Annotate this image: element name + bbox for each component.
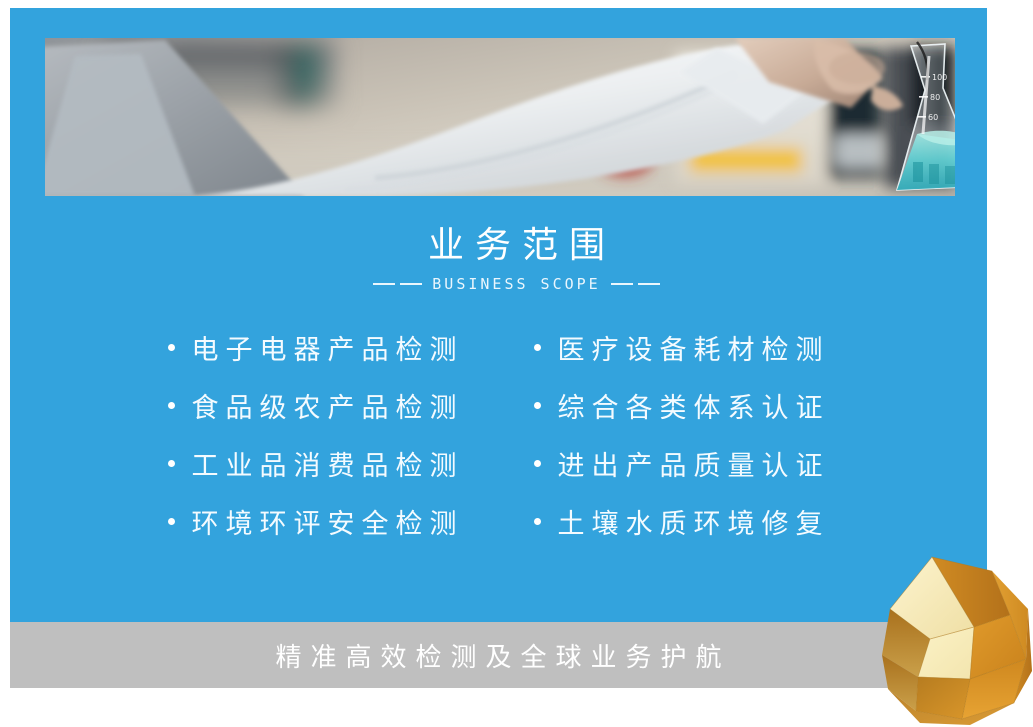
bullet-icon xyxy=(168,460,175,467)
hero-photo: 100 80 60 xyxy=(45,38,955,196)
section-heading: 业务范围 BUSINESS SCOPE xyxy=(0,224,1033,294)
svg-text:60: 60 xyxy=(928,113,938,122)
footer-banner-label: 精准高效检测及全球业务护航 xyxy=(266,637,730,674)
slide-canvas: 100 80 60 业务范围 BUSINESS SCOPE xyxy=(0,0,1033,727)
bullet-icon xyxy=(534,344,541,351)
page-title: 业务范围 xyxy=(0,224,1033,268)
list-item-label: 环境环评安全检测 xyxy=(192,502,464,541)
bullet-icon xyxy=(534,460,541,467)
section-subtitle: BUSINESS SCOPE xyxy=(0,274,1033,294)
list-item-label: 电子电器产品检测 xyxy=(192,328,464,367)
list-item: 电子电器产品检测 xyxy=(168,318,464,376)
bullet-icon xyxy=(534,402,541,409)
subtitle-rule-left xyxy=(373,283,422,285)
list-item: 工业品消费品检测 xyxy=(168,434,464,492)
list-item: 食品级农产品检测 xyxy=(168,376,464,434)
list-item-label: 食品级农产品检测 xyxy=(192,386,464,425)
subtitle-label: BUSINESS SCOPE xyxy=(432,274,600,294)
list-item-label: 土壤水质环境修复 xyxy=(558,502,830,541)
bullet-icon xyxy=(168,402,175,409)
list-item: 综合各类体系认证 xyxy=(534,376,830,434)
list-item: 土壤水质环境修复 xyxy=(534,492,830,550)
rule-segment xyxy=(611,283,633,285)
footer-banner: 精准高效检测及全球业务护航 xyxy=(10,622,987,688)
list-item-label: 进出产品质量认证 xyxy=(558,444,830,483)
bullet-icon xyxy=(534,518,541,525)
bullet-icon xyxy=(168,344,175,351)
scope-column-left: 电子电器产品检测 食品级农产品检测 工业品消费品检测 环境环评安全检测 xyxy=(168,318,464,550)
polyhedron-decoration xyxy=(874,553,1033,727)
bullet-icon xyxy=(168,518,175,525)
list-item-label: 工业品消费品检测 xyxy=(192,444,464,483)
svg-text:80: 80 xyxy=(930,93,940,102)
business-scope-lists: 电子电器产品检测 食品级农产品检测 工业品消费品检测 环境环评安全检测 医疗设备… xyxy=(10,318,987,550)
svg-text:100: 100 xyxy=(932,73,947,82)
list-item: 环境环评安全检测 xyxy=(168,492,464,550)
list-item: 医疗设备耗材检测 xyxy=(534,318,830,376)
subtitle-rule-right xyxy=(611,283,660,285)
list-item-label: 医疗设备耗材检测 xyxy=(558,328,830,367)
rule-segment xyxy=(638,283,660,285)
rule-segment xyxy=(400,283,422,285)
rule-segment xyxy=(373,283,395,285)
scope-column-right: 医疗设备耗材检测 综合各类体系认证 进出产品质量认证 土壤水质环境修复 xyxy=(534,318,830,550)
list-item-label: 综合各类体系认证 xyxy=(558,386,830,425)
lab-photo-illustration: 100 80 60 xyxy=(45,38,955,196)
list-item: 进出产品质量认证 xyxy=(534,434,830,492)
